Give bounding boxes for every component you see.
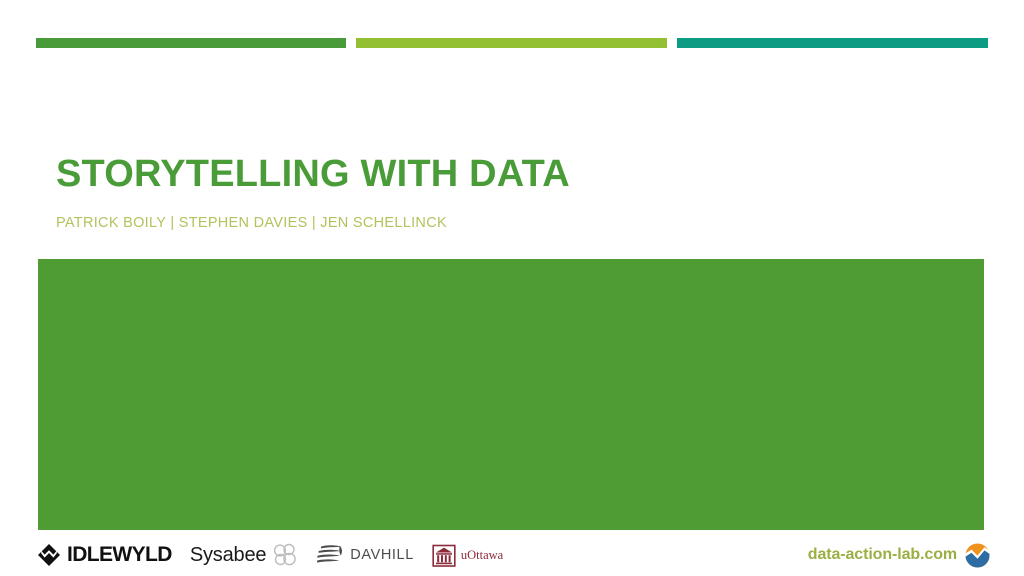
sysabee-circles-icon [271, 543, 297, 567]
idlewyld-diamond-icon [36, 542, 62, 568]
slide-footer: IDLEWYLD Sysabee [0, 534, 1024, 576]
site-link-group[interactable]: data-action-lab.com [808, 534, 990, 576]
uottawa-building-icon [432, 542, 456, 568]
logo-idlewyld-label: IDLEWYLD [67, 543, 172, 567]
davhill-lines-icon [315, 543, 345, 567]
title-block: STORYTELLING WITH DATA PATRICK BOILY | S… [56, 152, 956, 232]
logo-davhill-label: DAVHILL [350, 547, 414, 563]
data-action-lab-logo-icon [965, 543, 990, 568]
logo-uottawa[interactable]: uOttawa [432, 542, 503, 568]
site-url-label[interactable]: data-action-lab.com [808, 546, 957, 564]
content-panel [38, 259, 984, 530]
logo-uottawa-label: uOttawa [461, 548, 503, 563]
logo-davhill[interactable]: DAVHILL [315, 542, 414, 568]
accent-bar-teal [677, 38, 988, 48]
page-title: STORYTELLING WITH DATA [56, 152, 956, 196]
logo-idlewyld[interactable]: IDLEWYLD [36, 542, 172, 568]
logo-sysabee-label: Sysabee [190, 544, 266, 567]
accent-bar-group [0, 38, 1024, 48]
logo-sysabee[interactable]: Sysabee [190, 542, 297, 568]
author-byline: PATRICK BOILY | STEPHEN DAVIES | JEN SCH… [56, 196, 956, 232]
accent-bar-green [36, 38, 346, 48]
presentation-slide: STORYTELLING WITH DATA PATRICK BOILY | S… [0, 0, 1024, 576]
partner-logo-group: IDLEWYLD Sysabee [36, 534, 503, 576]
accent-bar-lime [356, 38, 667, 48]
